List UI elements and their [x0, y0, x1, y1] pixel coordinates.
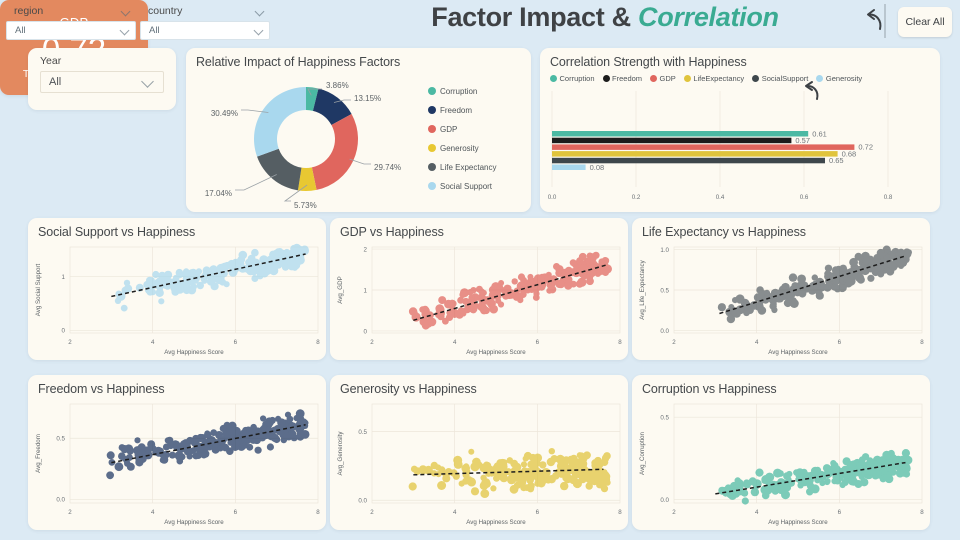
- bar-legend-item[interactable]: Corruption: [550, 74, 595, 83]
- donut-value-label: 30.49%: [211, 109, 238, 118]
- bar-legend-item[interactable]: LifeExpectancy: [684, 74, 744, 83]
- undo-arrow-icon[interactable]: [800, 80, 824, 104]
- bar-chart-title: Correlation Strength with Happiness: [540, 48, 940, 69]
- scatter-chart-freedom[interactable]: 24680.00.5Avg Happiness ScoreAvg_Freedom: [28, 396, 326, 529]
- scatter-y-tick-label: 0: [364, 328, 368, 335]
- bar-legend-swatch: [752, 75, 759, 82]
- filter-country-label: country: [148, 5, 182, 17]
- donut-value-label: 3.86%: [326, 81, 349, 90]
- bar-value-label: 0.72: [858, 143, 873, 152]
- filter-year-select[interactable]: All: [40, 71, 164, 93]
- scatter-x-tick-label: 6: [234, 339, 238, 346]
- bar-x-tick-label: 0.8: [884, 194, 893, 201]
- scatter-trendline: [111, 254, 305, 296]
- scatter-chart-generosity[interactable]: 24680.00.5Avg Happiness ScoreAvg_Generos…: [330, 396, 628, 529]
- scatter-y-tick-label: 0.0: [358, 498, 367, 505]
- scatter-x-tick-label: 8: [920, 509, 924, 516]
- scatter-chart-social-support[interactable]: 246801Avg Happiness ScoreAvg Social Supp…: [28, 239, 326, 359]
- scatter-x-tick-label: 6: [838, 339, 842, 346]
- chevron-down-icon[interactable]: [142, 76, 155, 89]
- donut-legend-swatch[interactable]: [428, 182, 436, 190]
- scatter-card-life-expectancy: Life Expectancy vs Happiness 24680.00.51…: [632, 218, 930, 360]
- donut-legend-swatch[interactable]: [428, 125, 436, 133]
- scatter-x-axis-label: Avg Happiness Score: [466, 349, 526, 356]
- bar-value-label: 0.08: [590, 163, 605, 172]
- scatter-x-tick-label: 2: [672, 339, 676, 346]
- bar-x-tick-label: 0.4: [716, 194, 725, 201]
- scatter-x-tick-label: 2: [370, 339, 374, 346]
- chevron-down-icon[interactable]: [254, 26, 263, 35]
- scatter-title-generosity: Generosity vs Happiness: [330, 375, 628, 396]
- scatter-card-corruption: Corruption vs Happiness 24680.00.5Avg Ha…: [632, 375, 930, 530]
- filter-year-value: All: [49, 76, 61, 88]
- donut-legend-label[interactable]: Generosity: [440, 144, 479, 153]
- scatter-x-tick-label: 2: [672, 509, 676, 516]
- bar-legend-swatch: [684, 75, 691, 82]
- scatter-chart-corruption[interactable]: 24680.00.5Avg Happiness ScoreAvg_Corrupt…: [632, 396, 930, 529]
- donut-legend-swatch[interactable]: [428, 163, 436, 171]
- donut-legend-swatch[interactable]: [428, 87, 436, 95]
- donut-legend-label[interactable]: Freedom: [440, 106, 472, 115]
- bar-legend-label: LifeExpectancy: [693, 74, 744, 83]
- scatter-title-corruption: Corruption vs Happiness: [632, 375, 930, 396]
- donut-slice-life-expectancy[interactable]: [257, 149, 301, 191]
- bar-legend-label: Corruption: [560, 74, 595, 83]
- filter-year-card[interactable]: Year All: [28, 48, 176, 110]
- scatter-chart-gdp[interactable]: 2468012Avg Happiness ScoreAvg_GDP: [330, 239, 628, 359]
- scatter-card-generosity: Generosity vs Happiness 24680.00.5Avg Ha…: [330, 375, 628, 530]
- page-title-accent: Correlation: [638, 2, 779, 32]
- scatter-x-tick-label: 4: [453, 509, 457, 516]
- scatter-x-tick-label: 4: [151, 339, 155, 346]
- scatter-card-gdp: GDP vs Happiness 2468012Avg Happiness Sc…: [330, 218, 628, 360]
- clear-all-button[interactable]: Clear All: [898, 7, 952, 37]
- scatter-y-tick-label: 0.0: [660, 328, 669, 335]
- scatter-x-tick-label: 2: [370, 509, 374, 516]
- scatter-x-tick-label: 8: [316, 509, 320, 516]
- donut-slice-gdp[interactable]: [312, 114, 358, 190]
- scatter-x-axis-label: Avg Happiness Score: [164, 519, 224, 526]
- chevron-down-icon[interactable]: [121, 7, 130, 16]
- filter-region[interactable]: region All: [6, 3, 136, 40]
- bar-generosity[interactable]: [552, 165, 586, 171]
- scatter-y-tick-label: 0.5: [56, 436, 65, 443]
- bar-legend-swatch: [603, 75, 610, 82]
- donut-chart-title: Relative Impact of Happiness Factors: [186, 48, 531, 69]
- scatter-x-axis-label: Avg Happiness Score: [164, 349, 224, 356]
- scatter-title-social-support: Social Support vs Happiness: [28, 218, 326, 239]
- donut-legend-swatch[interactable]: [428, 106, 436, 114]
- scatter-x-tick-label: 8: [920, 339, 924, 346]
- scatter-x-tick-label: 8: [316, 339, 320, 346]
- donut-legend-swatch[interactable]: [428, 144, 436, 152]
- bar-chart-card: Correlation Strength with Happiness Corr…: [540, 48, 940, 212]
- scatter-y-tick-label: 1: [62, 274, 66, 281]
- filter-year-label: Year: [28, 48, 176, 67]
- undo-arrow-icon[interactable]: [862, 8, 886, 34]
- filter-country-value: All: [149, 25, 160, 36]
- scatter-x-tick-label: 2: [68, 509, 72, 516]
- scatter-x-tick-label: 4: [755, 509, 759, 516]
- scatter-y-axis-label: Avg_Generosity: [337, 431, 344, 476]
- scatter-x-tick-label: 2: [68, 339, 72, 346]
- donut-slice-social-support[interactable]: [254, 87, 306, 157]
- scatter-y-axis-label: Avg Social Support: [35, 263, 42, 316]
- scatter-x-tick-label: 6: [536, 339, 540, 346]
- filter-region-label: region: [14, 5, 43, 17]
- scatter-x-tick-label: 6: [234, 509, 238, 516]
- scatter-x-tick-label: 6: [536, 509, 540, 516]
- scatter-y-tick-label: 0.0: [660, 497, 669, 504]
- scatter-x-tick-label: 6: [838, 509, 842, 516]
- scatter-y-tick-label: 0: [62, 328, 66, 335]
- bar-corruption[interactable]: [552, 131, 808, 137]
- bar-gdp[interactable]: [552, 144, 854, 150]
- page-title-main: Factor Impact &: [431, 2, 631, 32]
- bar-chart-legend[interactable]: CorruptionFreedomGDPLifeExpectancySocial…: [540, 69, 940, 83]
- chevron-down-icon[interactable]: [120, 26, 129, 35]
- scatter-y-axis-label: Avg_GDP: [337, 276, 344, 303]
- chevron-down-icon[interactable]: [255, 7, 264, 16]
- scatter-x-tick-label: 8: [618, 509, 622, 516]
- bar-legend-swatch: [650, 75, 657, 82]
- bar-legend-label: Freedom: [612, 74, 642, 83]
- bar-value-label: 0.61: [812, 129, 827, 138]
- scatter-y-axis-label: Avg_Corruption: [639, 432, 646, 475]
- bar-x-tick-label: 0.2: [632, 194, 641, 201]
- filter-country-header: country: [140, 3, 270, 19]
- donut-legend-label[interactable]: Life Expectancy: [440, 163, 496, 172]
- page-title: Factor Impact & Correlation: [370, 2, 840, 33]
- filter-region-select[interactable]: All: [6, 21, 136, 40]
- bar-legend-swatch: [550, 75, 557, 82]
- scatter-x-axis-label: Avg Happiness Score: [768, 349, 828, 356]
- bar-x-tick-label: 0.0: [548, 194, 557, 201]
- scatter-trendline: [413, 265, 607, 321]
- scatter-points[interactable]: [115, 244, 309, 312]
- scatter-title-freedom: Freedom vs Happiness: [28, 375, 326, 396]
- scatter-y-tick-label: 0.5: [660, 287, 669, 294]
- donut-legend-label[interactable]: GDP: [440, 125, 457, 134]
- bar-legend-label: GDP: [660, 74, 676, 83]
- toolbar-divider: [884, 4, 886, 38]
- scatter-title-gdp: GDP vs Happiness: [330, 218, 628, 239]
- scatter-y-axis-label: Avg_Life_Expectancy: [639, 259, 646, 319]
- donut-value-label: 13.15%: [354, 94, 381, 103]
- scatter-points[interactable]: [409, 252, 612, 330]
- donut-legend-label[interactable]: Social Support: [440, 182, 493, 191]
- filter-country[interactable]: country All: [140, 3, 270, 40]
- scatter-chart-life-expectancy[interactable]: 24680.00.51.0Avg Happiness ScoreAvg_Life…: [632, 239, 930, 359]
- bar-x-tick-label: 0.6: [800, 194, 809, 201]
- bar-value-label: 0.65: [829, 156, 844, 165]
- scatter-card-social-support: Social Support vs Happiness 246801Avg Ha…: [28, 218, 326, 360]
- scatter-x-tick-label: 4: [755, 339, 759, 346]
- scatter-points[interactable]: [409, 448, 611, 498]
- scatter-card-freedom: Freedom vs Happiness 24680.00.5Avg Happi…: [28, 375, 326, 530]
- scatter-title-life-expectancy: Life Expectancy vs Happiness: [632, 218, 930, 239]
- bar-chart[interactable]: 0.00.20.40.60.80.610.570.720.680.650.08: [540, 83, 940, 208]
- scatter-x-tick-label: 4: [151, 509, 155, 516]
- scatter-x-tick-label: 8: [618, 339, 622, 346]
- scatter-x-axis-label: Avg Happiness Score: [768, 519, 828, 526]
- bar-value-label: 0.68: [842, 149, 857, 158]
- donut-value-label: 17.04%: [205, 189, 232, 198]
- filter-region-header: region: [6, 3, 136, 19]
- scatter-y-tick-label: 1.0: [660, 247, 669, 254]
- donut-chart[interactable]: 3.86%13.15%29.74%5.73%17.04%30.49%Corrup…: [186, 69, 531, 211]
- scatter-x-tick-label: 4: [453, 339, 457, 346]
- scatter-y-tick-label: 0.0: [56, 497, 65, 504]
- filter-region-value: All: [15, 25, 26, 36]
- filter-country-select[interactable]: All: [140, 21, 270, 40]
- bar-value-label: 0.57: [795, 136, 810, 145]
- scatter-y-tick-label: 0.5: [660, 415, 669, 422]
- donut-legend-label[interactable]: Corruption: [440, 87, 477, 96]
- donut-value-label: 29.74%: [374, 163, 401, 172]
- dashboard-page: region All country All Factor Impact & C…: [0, 0, 960, 540]
- donut-value-label: 5.73%: [294, 201, 317, 210]
- top-filter-bar: region All country All Factor Impact & C…: [0, 0, 960, 46]
- bar-legend-label: Generosity: [826, 74, 862, 83]
- scatter-y-tick-label: 2: [364, 246, 368, 253]
- scatter-y-tick-label: 1: [364, 287, 368, 294]
- bar-legend-item[interactable]: GDP: [650, 74, 676, 83]
- bar-legend-item[interactable]: Freedom: [603, 74, 643, 83]
- scatter-y-axis-label: Avg_Freedom: [35, 434, 42, 473]
- bar-lifeexpectancy[interactable]: [552, 151, 838, 157]
- scatter-y-tick-label: 0.5: [358, 429, 367, 436]
- donut-chart-card: Relative Impact of Happiness Factors 3.8…: [186, 48, 531, 212]
- scatter-x-axis-label: Avg Happiness Score: [466, 519, 526, 526]
- bar-freedom[interactable]: [552, 138, 791, 144]
